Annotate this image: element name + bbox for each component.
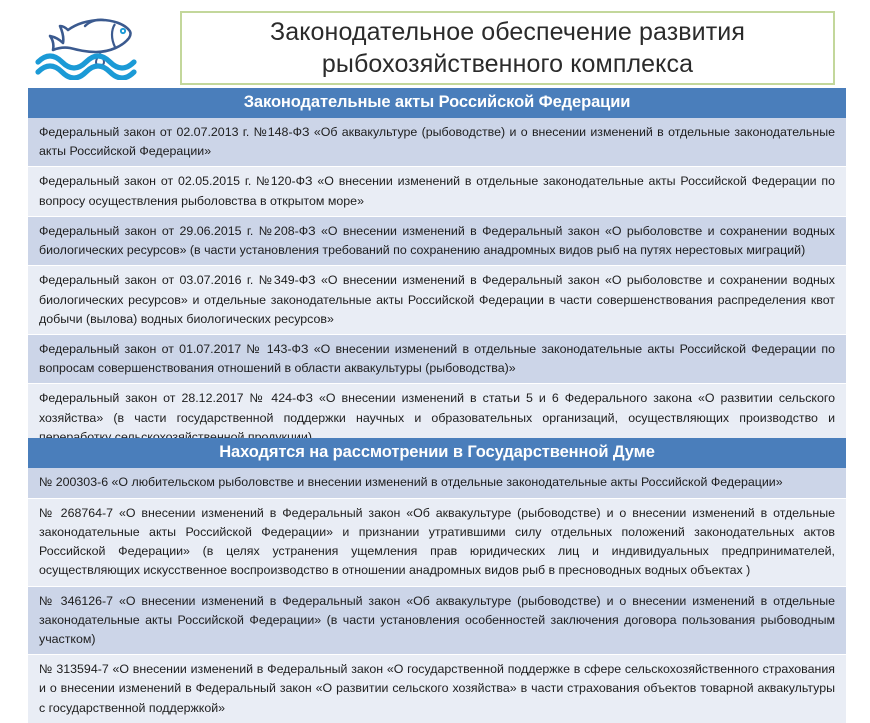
page-title: Законодательное обеспечение развития рыб… [264, 16, 751, 80]
section-header-state-duma: Находятся на рассмотрении в Государствен… [28, 438, 846, 468]
table-row: Федеральный закон от 01.07.2017 № 143-ФЗ… [28, 334, 846, 383]
section-header-federal-acts: Законодательные акты Российской Федераци… [28, 88, 846, 118]
slide-title-box: Законодательное обеспечение развития рыб… [180, 11, 835, 85]
table-row: Федеральный закон от 02.07.2013 г. №148-… [28, 118, 846, 166]
legislation-table: Законодательные акты Российской Федераци… [28, 88, 846, 723]
slide-header: Законодательное обеспечение развития рыб… [0, 0, 870, 88]
table-row: № 268764-7 «О внесении изменений в Федер… [28, 498, 846, 586]
table-row: Федеральный закон от 02.05.2015 г. №120-… [28, 166, 846, 215]
table-row: № 313594-7 «О внесении изменений в Федер… [28, 654, 846, 723]
table-row: Федеральный закон от 28.12.2017 № 424-ФЗ… [28, 383, 846, 438]
table-row: Федеральный закон от 29.06.2015 г. №208-… [28, 216, 846, 265]
table-row: № 200303-6 «О любительском рыболовстве и… [28, 468, 846, 497]
table-row: Федеральный закон от 03.07.2016 г. №349-… [28, 265, 846, 334]
fish-waves-logo-icon [30, 14, 160, 80]
table-row: № 346126-7 «О внесении изменений в Федер… [28, 586, 846, 655]
